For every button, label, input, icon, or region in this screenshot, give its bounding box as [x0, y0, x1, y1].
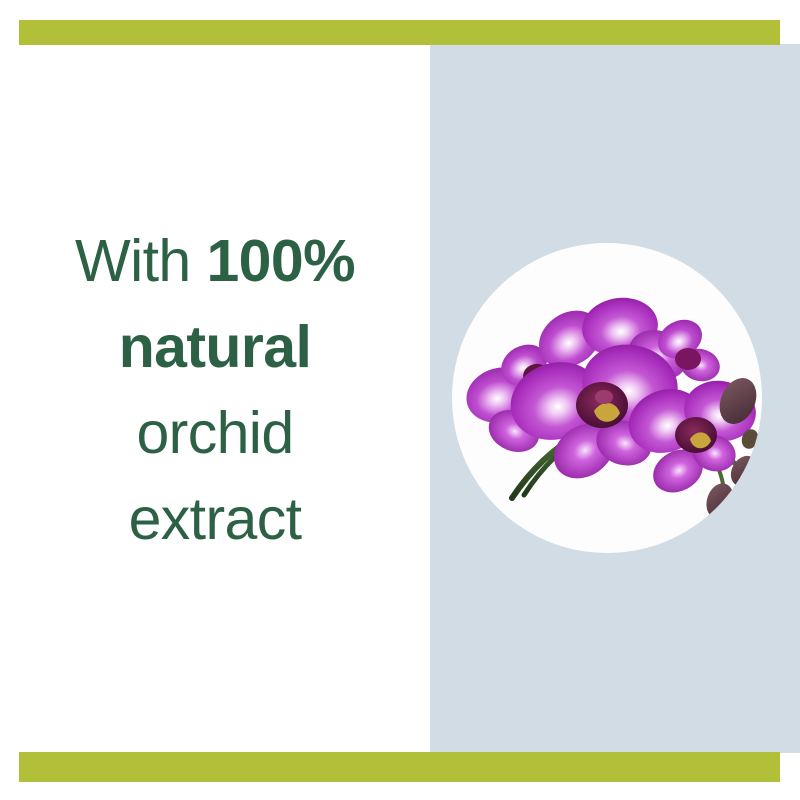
orchid-illustration	[452, 243, 762, 553]
headline-line-1: With 100%	[18, 232, 412, 291]
headline-line-3: orchid	[18, 404, 412, 463]
promo-banner: With 100% natural orchid extract	[0, 0, 800, 800]
orchid-medallion	[452, 243, 762, 553]
headline-line-4: extract	[18, 490, 412, 549]
top-accent-bar	[19, 20, 780, 45]
bottom-accent-bar	[19, 752, 780, 782]
headline-line-1-part-2: 100%	[206, 228, 355, 294]
headline-line-2: natural	[18, 318, 412, 377]
headline-line-1-part-1: With	[75, 228, 206, 294]
headline-block: With 100% natural orchid extract	[18, 232, 412, 549]
